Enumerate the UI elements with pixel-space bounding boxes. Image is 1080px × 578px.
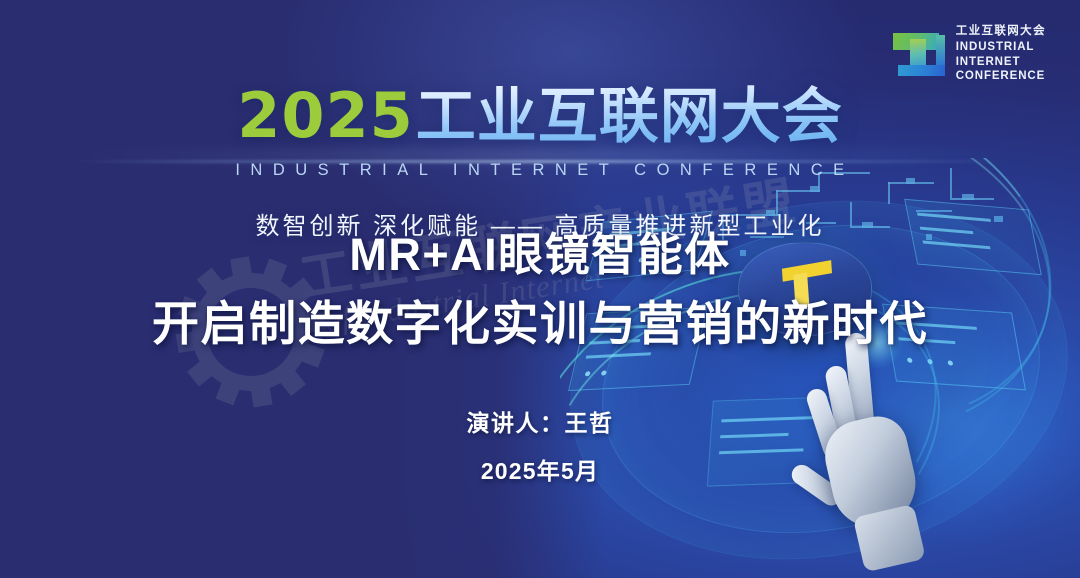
title-line-2: 开启制造数字化实训与营销的新时代 [0,289,1080,359]
speaker-info: 演讲人：王哲 2025年5月 [0,404,1080,486]
title-line-1: MR+AI眼镜智能体 [0,222,1080,289]
logotype-year: 2025 [237,79,414,152]
presentation-date: 2025年5月 [0,452,1080,486]
presentation-slide: 工业互联网产业联盟 of Industrial Internet [0,0,1080,578]
corner-logo-en-line2: INTERNET [956,55,1046,69]
slide-title: MR+AI眼镜智能体 开启制造数字化实训与营销的新时代 [0,222,1080,358]
logotype-cn-name: 工业互联网大会 [416,68,843,155]
corner-logo-cn: 工业互联网大会 [956,24,1046,38]
speaker-name: 演讲人：王哲 [0,404,1080,438]
conference-logotype: 2025 工业互联网大会 INDUSTRIAL INTERNET CONFERE… [0,68,1080,241]
logotype-row: 2025 工业互联网大会 [237,68,843,155]
corner-logo-en-line1: INDUSTRIAL [956,40,1046,54]
logotype-en-name: INDUSTRIAL INTERNET CONFERENCE [0,161,1080,180]
